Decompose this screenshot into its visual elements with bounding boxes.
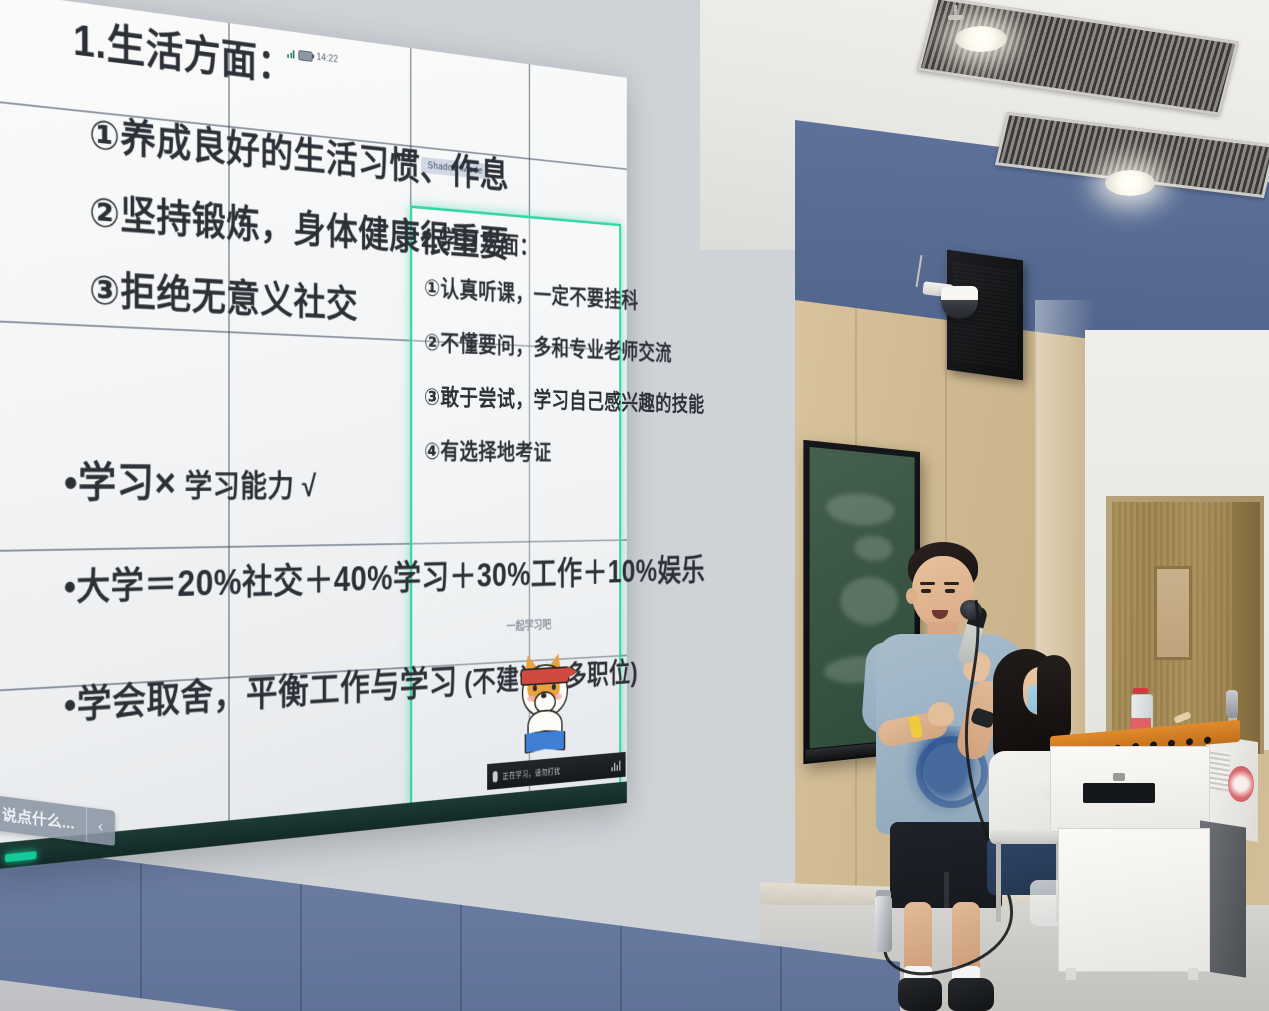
- presenter-leg-right: [952, 902, 980, 976]
- slide-section2-item-4: ④有选择地考证: [424, 439, 552, 465]
- lectern-cabinet: [1058, 828, 1210, 972]
- thermos-bottle: [875, 896, 892, 952]
- ceiling-downlight: [955, 26, 1007, 52]
- lectern-emblem: [1228, 766, 1254, 802]
- bullet-dot: •: [64, 567, 76, 608]
- slide-section1-item-1: ①养成良好的生活习惯、作息: [89, 113, 509, 196]
- bullet-dot: •: [64, 460, 78, 507]
- lectern-vents: [1208, 748, 1230, 791]
- shiba-headband: [521, 666, 570, 686]
- battery-icon: [298, 50, 312, 62]
- bullet-dot: •: [64, 684, 77, 727]
- shiba-dog-sticker: [507, 640, 580, 755]
- screenshot-root: 14:22 Shadow Mode 1.生活方面： ①养成良好的生活习惯、作息 …: [0, 0, 1269, 1011]
- sticker-bar-label: 正在学习，请勿打扰: [503, 765, 561, 781]
- presenter-leg-left: [904, 902, 932, 976]
- lectern-drawer[interactable]: [1083, 783, 1155, 803]
- presenter-shoe-right: [948, 978, 994, 1011]
- slide-section1-title: 1.生活方面：: [73, 17, 293, 91]
- presenter-brow-right: [944, 582, 959, 585]
- presenter-hand-left: [928, 702, 954, 726]
- presenter-brow-left: [920, 582, 935, 585]
- wooden-door[interactable]: [1112, 502, 1232, 754]
- chevron-left-icon[interactable]: ‹: [86, 807, 115, 846]
- presenter-shoe-left: [898, 978, 942, 1011]
- slide-section1-item-3: ③拒绝无意义社交: [89, 268, 358, 325]
- lectern-lock[interactable]: [1113, 773, 1125, 781]
- gooseneck-microphone[interactable]: [1226, 690, 1238, 718]
- watermark-study-together: 一起学习吧: [507, 615, 552, 633]
- presenter-eye-right: [945, 589, 955, 593]
- led-video-wall[interactable]: 14:22 Shadow Mode 1.生活方面： ①养成良好的生活习惯、作息 …: [0, 0, 627, 870]
- status-clock: 14:22: [317, 51, 338, 65]
- lectern-upper-body: [1050, 746, 1210, 832]
- fire-sprinkler-icon: [948, 5, 964, 23]
- device-status-bar: 14:22: [287, 48, 338, 66]
- microphone-icon: [493, 770, 498, 782]
- ceiling-downlight: [1105, 170, 1155, 196]
- audio-wave-icon: [611, 759, 620, 771]
- multimedia-lectern[interactable]: [1050, 728, 1255, 980]
- presenter-eye-left: [921, 589, 931, 593]
- presenter-ear: [906, 588, 917, 604]
- door-view-window: [1154, 566, 1192, 660]
- slide-bullet-1: •学习× 学习能力 √: [64, 461, 317, 507]
